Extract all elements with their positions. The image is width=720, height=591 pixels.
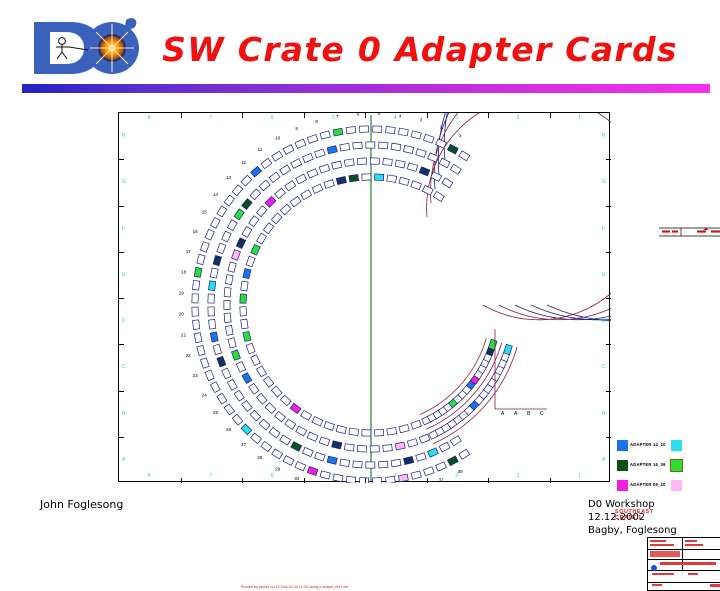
adapter-card-slot[interactable] [327,456,337,464]
adapter-card-slot[interactable] [241,175,252,186]
ruler-tick [488,113,489,118]
adapter-card-slot[interactable] [210,268,218,278]
ruler-label: 1 [578,473,581,479]
adapter-card-slot[interactable] [222,368,231,379]
column-letter: A [501,411,505,417]
adapter-card-slot[interactable] [224,313,231,323]
adapter-card-slot[interactable] [353,142,362,149]
adapter-card-slot[interactable] [265,196,276,207]
ruler-tick [606,298,611,299]
adapter-card-slot[interactable] [192,294,199,303]
footer-presenters: Bagby, Foglesong [588,524,677,537]
adapter-card-slot[interactable] [378,461,387,468]
sector-number: 11 [258,147,263,152]
adapter-card-slot[interactable] [344,444,354,451]
ruler-label: 4 [394,115,397,121]
adapter-card-slot[interactable] [423,134,434,143]
ruler-tick [606,159,611,160]
adapter-card-slot[interactable] [236,361,245,372]
adapter-card-slot[interactable] [428,448,439,457]
adapter-card-slot[interactable] [194,333,202,343]
adapter-card-slot[interactable] [205,370,214,381]
adapter-card-slot[interactable] [280,395,291,406]
card-ring-ring-4-inner [240,174,444,436]
sector-number: 5 [378,113,381,116]
adapter-card-slot[interactable] [366,142,375,148]
adapter-card-slot[interactable] [407,439,417,448]
legend-swatch-primary [617,480,628,491]
adapter-card-slot[interactable] [209,281,216,291]
adapter-card-slot[interactable] [217,243,226,254]
sector-number: 10 [275,136,281,141]
ruler-label: H [122,133,126,139]
adapter-card-slot[interactable] [319,437,330,446]
sector-number: 2 [440,124,443,129]
adapter-card-slot[interactable] [439,442,450,452]
adapter-card-slot[interactable] [225,325,233,335]
adapter-card-slot[interactable] [269,172,280,182]
adapter-card-slot[interactable] [459,151,470,161]
sector-number: 6 [357,113,360,116]
adapter-card-slot[interactable] [373,126,382,133]
ruler-label: 2 [517,473,520,479]
adapter-card-slot[interactable] [283,145,294,155]
adapter-card-slot[interactable] [353,461,362,468]
adapter-card-slot[interactable] [301,410,312,420]
adapter-card-slot[interactable] [447,144,458,154]
adapter-card-slot[interactable] [241,424,252,435]
adapter-card-slot[interactable] [459,449,470,459]
adapter-card-slot[interactable] [257,233,267,244]
ruler-label: 5 [332,473,335,479]
adapter-card-slot[interactable] [399,177,409,185]
adapter-card-slot[interactable] [275,188,286,198]
adapter-card-slot[interactable] [242,226,252,237]
ruler-label: 1 [578,115,581,121]
adapter-card-slot[interactable] [366,462,375,468]
adapter-card-slot[interactable] [407,163,417,172]
adapter-card-slot[interactable] [222,231,231,242]
adapter-card-slot[interactable] [271,386,282,397]
plot-stamp-text: Plotted by pfoley on 12-Dec-02 at 11:34 … [241,585,349,589]
legend-label: ADAPTER 09_10 [630,482,666,487]
adapter-card-slot[interactable] [411,471,421,479]
adapter-card-slot[interactable] [251,166,262,177]
ruler-tick [119,159,124,160]
adapter-card-slot[interactable] [234,209,244,220]
sector-number: 29 [275,467,281,472]
adapter-card-slot[interactable] [242,373,252,384]
sector-number: 24 [202,392,208,397]
adapter-card-slot[interactable] [259,180,270,191]
adapter-card-slot[interactable] [333,128,343,136]
adapter-card-slot[interactable] [439,158,450,168]
ruler-label: 3 [455,473,458,479]
adapter-card-slot[interactable] [349,174,359,181]
adapter-card-slot[interactable] [362,430,371,437]
ruler-label: 6 [271,115,274,121]
adapter-card-slot[interactable] [395,442,405,450]
cad-drawing-frame: AABC 12345678910111213141516171819202122… [118,112,610,482]
adapter-card-slot[interactable] [243,269,251,279]
adapter-card-slot[interactable] [411,131,421,139]
column-letter: C [540,411,544,417]
adapter-card-slot[interactable] [259,419,270,430]
adapter-card-slot[interactable] [208,294,215,303]
adapter-card-slot[interactable] [422,186,433,196]
adapter-card-slot[interactable] [319,164,330,173]
adapter-card-slot[interactable] [373,478,382,483]
adapter-card-slot[interactable] [217,206,227,217]
adapter-card-slot[interactable] [307,467,318,476]
ruler-tick [365,113,366,118]
adapter-card-slot[interactable] [327,146,337,154]
adapter-card-slot[interactable] [265,403,276,414]
adapter-card-slot[interactable] [296,426,307,436]
adapter-card-slot[interactable] [227,379,237,390]
ruler-label: 5 [332,115,335,121]
adapter-card-slot[interactable] [488,339,497,349]
adapter-card-slot[interactable] [232,414,243,425]
sector-number: 15 [202,210,208,215]
ruler-tick [606,206,611,207]
adapter-card-slot[interactable] [228,262,236,272]
adapter-card-slot[interactable] [411,181,422,190]
ruler-tick [181,113,182,118]
adapter-card-slot[interactable] [336,176,346,184]
adapter-card-slot[interactable] [256,393,267,404]
adapter-card-slot[interactable] [208,307,215,316]
adapter-card-slot[interactable] [387,175,397,183]
adapter-card-slot[interactable] [383,444,393,451]
adapter-card-slot[interactable] [240,294,247,303]
adapter-card-layout-svg: AABC 12345678910111213141516171819202122… [119,113,611,483]
adapter-card-slot[interactable] [227,220,237,231]
adapter-card-slot[interactable] [302,447,313,456]
adapter-card-slot[interactable] [228,338,236,348]
adapter-card-slot[interactable] [296,174,307,184]
adapter-card-slot[interactable] [243,331,251,341]
ruler-label: F [602,226,605,232]
adapter-card-slot[interactable] [398,474,408,482]
ruler-tick [181,478,182,483]
footer-meta: D0 Workshop 12.12.2002 Bagby, Foglesong [588,498,677,537]
ruler-tick [427,113,428,118]
adapter-card-slot[interactable] [291,442,302,452]
ruler-tick [606,344,611,345]
sector-number: 3 [420,118,423,123]
ruler-label: E [602,272,605,278]
sector-number: 37 [438,478,444,483]
adapter-card-slot[interactable] [249,383,259,394]
ruler-tick [119,252,124,253]
ruler-label: H [602,133,606,139]
ruler-tick [550,113,551,118]
adapter-card-slot[interactable] [217,356,226,367]
adapter-card-slot[interactable] [217,393,227,404]
ruler-tick [119,391,124,392]
adapter-card-slot[interactable] [193,281,200,291]
ruler-tick [242,478,243,483]
adapter-card-slot[interactable] [295,139,306,148]
ruler-label: B [122,411,125,417]
adapter-card-slot[interactable] [211,217,221,228]
adapter-card-slot[interactable] [433,191,444,201]
sector-number: 25 [213,410,219,415]
adapter-card-slot[interactable] [236,238,245,249]
adapter-card-slot[interactable] [442,178,453,188]
sector-number: 13 [226,175,232,180]
adapter-card-slot[interactable] [359,126,368,133]
ruler-tick [365,478,366,483]
title-divider-bar [22,84,710,93]
sector-number: 1 [459,133,462,138]
adapter-card-slot[interactable] [240,307,247,316]
legend-row-adapter-14-10: ADAPTER 14_10 [617,439,685,455]
sector-number: 16 [193,229,199,234]
adapter-card-slot[interactable] [450,436,461,446]
ruler-tick [606,391,611,392]
adapter-card-slot[interactable] [403,145,413,153]
card-ring-ring-3 [224,158,453,452]
sector-number: 28 [257,455,263,460]
adapter-card-slot[interactable] [302,153,313,162]
adapter-card-slot[interactable] [419,434,430,443]
ruler-tick [606,437,611,438]
legend-swatch-secondary [671,460,682,471]
adapter-card-slot[interactable] [332,441,342,449]
adapter-card-slot[interactable] [344,159,354,166]
ruler-label: 7 [209,115,212,121]
adapter-card-slot[interactable] [307,169,318,178]
sector-number: 19 [179,290,185,295]
adapter-card-slot[interactable] [387,428,397,436]
adapter-card-slot[interactable] [200,358,209,369]
sector-number: 17 [186,249,192,254]
sector-number: 18 [181,269,187,274]
legend-swatch-primary [617,440,628,451]
adapter-card-slot[interactable] [346,127,356,134]
footer-author: John Foglesong [40,498,123,511]
adapter-card-slot[interactable] [399,424,409,432]
adapter-card-slot[interactable] [246,343,255,354]
adapter-card-slot[interactable] [213,344,221,354]
ruler-label: 6 [271,473,274,479]
adapter-card-slot[interactable] [272,151,283,161]
ruler-label: D [122,318,126,324]
ruler-label: D [602,318,606,324]
adapter-card-slot[interactable] [261,441,272,451]
adapter-card-slot[interactable] [357,445,366,452]
adapter-card-slot[interactable] [340,143,350,151]
sector-number: 26 [226,427,232,432]
adapter-card-slot[interactable] [416,453,426,462]
adapter-card-slot[interactable] [312,417,323,426]
adapter-card-slot[interactable] [283,456,294,466]
adapter-card-slot[interactable] [301,190,312,200]
ruler-tick [119,206,124,207]
adapter-card-slot[interactable] [285,181,296,191]
revision-stamp [659,227,720,237]
adapter-card-slot[interactable] [504,344,513,354]
adapter-card-slot[interactable] [295,462,306,471]
adapter-card-slot[interactable] [205,229,214,240]
adapter-card-slot[interactable] [250,189,261,200]
ruler-label: E [122,272,125,278]
adapter-card-slot[interactable] [251,244,260,255]
d-zero-logo [26,14,144,82]
legend-label: ADAPTER 16_09 [630,462,666,467]
sector-number: 23 [193,373,199,378]
adapter-card-slot[interactable] [263,223,273,234]
adapter-card-slot[interactable] [197,345,205,355]
adapter-card-slot[interactable] [275,411,286,421]
adapter-card-slot[interactable] [269,428,280,438]
adapter-card-slot[interactable] [242,199,252,210]
sector-number: 12 [241,160,247,165]
ruler-tick [304,478,305,483]
adapter-card-slot[interactable] [395,160,405,168]
adapter-card-slot[interactable] [232,185,243,196]
adapter-card-slot[interactable] [193,320,200,330]
ruler-tick [119,344,124,345]
adapter-card-slot[interactable] [324,422,335,431]
adapter-card-slot[interactable] [370,446,379,452]
footer-event: D0 Workshop [588,498,677,511]
ruler-label: 4 [394,473,397,479]
adapter-card-slot[interactable] [285,419,296,429]
slide-root: SW Crate 0 Adapter Cards AABC 1234567891… [0,0,720,540]
adapter-card-slot[interactable] [246,256,255,267]
adapter-card-slot[interactable] [210,332,218,342]
column-letter: A [514,411,518,417]
adapter-card-slot[interactable] [241,319,248,329]
adapter-card-slot[interactable] [231,250,240,261]
adapter-card-slot[interactable] [315,452,326,461]
ruler-label: F [122,226,125,232]
adapter-card-slot[interactable] [192,307,199,316]
adapter-card-slot[interactable] [242,401,252,412]
ruler-tick [242,113,243,118]
adapter-card-slot[interactable] [224,195,234,206]
adapter-card-slot[interactable] [370,158,379,164]
adapter-card-slot[interactable] [349,428,359,435]
adapter-card-slot[interactable] [336,425,346,433]
adapter-card-slot[interactable] [307,432,318,441]
adapter-card-slot[interactable] [419,167,430,176]
adapter-card-slot[interactable] [374,429,383,436]
adapter-card-slot[interactable] [224,287,231,297]
adapter-card-slot[interactable] [290,403,301,413]
sector-number: 4 [399,113,402,118]
adapter-card-slot[interactable] [403,456,413,464]
legend-swatch-primary [617,460,628,471]
adapter-card-slot[interactable] [224,301,230,310]
adapter-card-slot[interactable] [194,267,202,277]
adapter-card-slot[interactable] [447,456,458,466]
adapter-card-slot[interactable] [428,153,439,162]
adapter-card-slot[interactable] [450,164,461,174]
adapter-card-slot[interactable] [423,467,434,476]
adapter-card-slot[interactable] [234,390,244,401]
adapter-card-slot[interactable] [271,213,282,224]
legend-label: ADAPTER 14_10 [630,442,666,447]
adapter-card-slot[interactable] [280,204,291,215]
adapter-card-slot[interactable] [386,126,396,133]
adapter-card-slot[interactable] [213,255,221,265]
adapter-card-slot[interactable] [346,476,356,483]
sector-number: 7 [336,114,339,119]
adapter-card-slot[interactable] [251,355,260,366]
adapter-card-slot[interactable] [200,242,209,253]
adapter-card-slot[interactable] [272,449,283,459]
adapter-card-slot[interactable] [312,184,323,193]
adapter-card-slot[interactable] [362,174,371,181]
legend-swatch-secondary [671,440,682,451]
adapter-card-slot[interactable] [315,149,326,158]
adapter-card-slot[interactable] [231,350,240,361]
sector-number: 8 [315,119,318,124]
adapter-card-slot[interactable] [320,131,330,139]
sector-number: 27 [241,442,247,447]
adapter-card-slot[interactable] [225,275,233,285]
adapter-card-slot[interactable] [263,376,273,387]
adapter-card-slot[interactable] [256,206,267,217]
legend: ADAPTER 14_10ADAPTER 16_09ADAPTER 09_10 [617,439,685,499]
adapter-card-slot[interactable] [378,142,387,149]
legend-swatch-secondary [671,480,682,491]
adapter-card-slot[interactable] [332,161,342,169]
adapter-card-slot[interactable] [211,382,221,393]
adapter-card-slot[interactable] [307,135,318,144]
adapter-card-slot[interactable] [241,281,248,291]
ruler-label: 8 [148,473,151,479]
adapter-card-slot[interactable] [357,158,366,165]
adapter-card-slot[interactable] [383,158,393,165]
adapter-card-slot[interactable] [261,158,272,168]
adapter-card-slot[interactable] [197,254,205,264]
sector-number: 38 [458,469,464,474]
adapter-card-slot[interactable] [320,471,330,479]
adapter-card-slot[interactable] [324,180,335,189]
adapter-card-slot[interactable] [290,196,301,206]
adapter-card-slot[interactable] [391,143,401,151]
adapter-card-slot[interactable] [391,459,401,467]
adapter-card-slot[interactable] [291,159,302,169]
legend-row-adapter-09-10: ADAPTER 09_10 [617,479,685,495]
adapter-card-slot[interactable] [374,174,383,181]
adapter-card-slot[interactable] [340,459,350,467]
adapter-card-slot[interactable] [224,404,234,415]
ruler-label: G [602,179,606,185]
ruler-label: 2 [517,115,520,121]
adapter-card-slot[interactable] [209,319,216,329]
adapter-card-slot[interactable] [280,435,291,445]
adapter-card-slot[interactable] [411,420,422,429]
ruler-label: A [122,457,125,463]
adapter-card-slot[interactable] [251,433,262,444]
sector-number: 9 [295,126,298,131]
adapter-card-slot[interactable] [249,216,259,227]
adapter-card-slot[interactable] [416,149,426,158]
adapter-card-slot[interactable] [250,410,261,421]
adapter-card-slot[interactable] [398,128,408,136]
adapter-card-slot[interactable] [280,165,291,175]
adapter-card-slot[interactable] [257,366,267,377]
ruler-tick [427,478,428,483]
ruler-label: C [602,364,606,370]
adapter-card-slot[interactable] [436,462,447,471]
